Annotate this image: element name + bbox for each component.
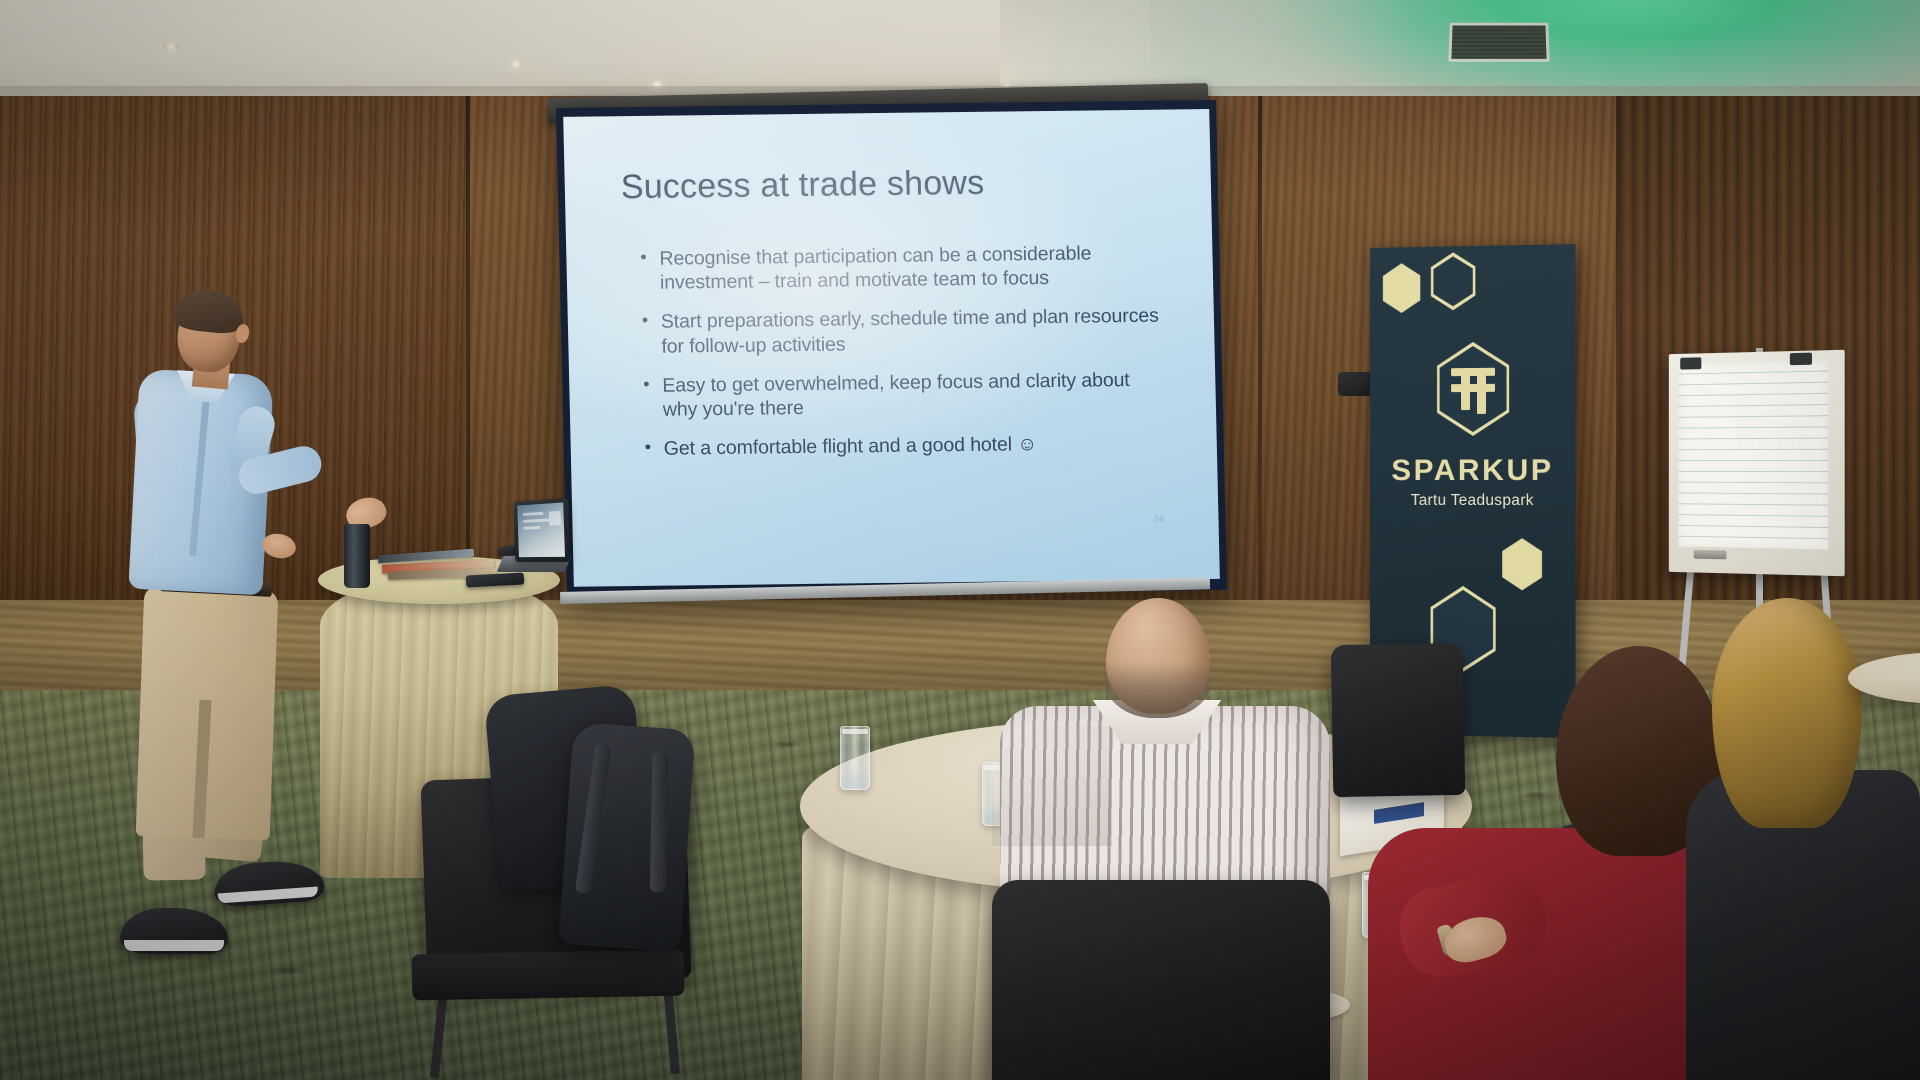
sparkup-brand-text: SPARKUP <box>1370 454 1576 488</box>
slide-bullet-item: Get a comfortable flight and a good hote… <box>644 431 1165 462</box>
hexagon-decor-icon <box>1499 538 1545 590</box>
hexagon-outline-icon <box>1427 252 1479 311</box>
backpack-strap <box>575 743 612 894</box>
flipchart-clip-icon <box>1680 357 1701 369</box>
downlight-icon <box>163 42 179 51</box>
slide-bullet-item: Recognise that participation can be a co… <box>640 241 1161 296</box>
slide-title: Success at trade shows <box>620 162 1167 208</box>
water-glass[interactable] <box>840 726 870 790</box>
ceiling-green-gradient <box>1000 0 1420 100</box>
chair-occupied-center[interactable] <box>1331 643 1466 797</box>
slide-bullet-item: Start preparations early, schedule time … <box>642 304 1163 359</box>
laptop-lid[interactable] <box>514 498 571 562</box>
downlight-icon <box>508 60 523 68</box>
backpack <box>558 722 695 952</box>
sparkup-tagline-text: Tartu Teaduspark <box>1370 492 1576 510</box>
attendee-dark-jacket-hair <box>1712 598 1862 828</box>
hexagon-decor-icon <box>1380 263 1423 313</box>
wall-speaker-icon <box>1338 372 1372 396</box>
backpack-strap <box>650 752 668 892</box>
presenter-shoe-sole <box>124 940 224 951</box>
flipchart-clip-icon <box>1790 353 1812 366</box>
chair-foreground[interactable] <box>992 880 1330 1080</box>
slide-bullet-list: Recognise that participation can be a co… <box>622 241 1173 462</box>
slide-surface: Success at trade shows Recognise that pa… <box>563 109 1220 587</box>
laptop-screen <box>517 502 565 557</box>
flipchart-easel <box>1669 350 1845 577</box>
conference-room-photo: SPARKUP Tartu Teaduspark Success at trad… <box>0 0 1920 1080</box>
slide-number: 58 <box>1154 514 1164 524</box>
wall-seam <box>1258 96 1262 656</box>
projection-screen: Success at trade shows Recognise that pa… <box>556 100 1227 598</box>
hvac-vent-icon <box>1448 23 1549 62</box>
black-tumbler <box>344 524 370 588</box>
chair-seat <box>412 950 685 1001</box>
attendee-shoulder-shading <box>992 726 1112 846</box>
flipchart-paper <box>1678 360 1828 549</box>
sparkup-logo-icon <box>1431 342 1515 437</box>
flipchart-marker <box>1694 550 1727 560</box>
slide-bullet-item: Easy to get overwhelmed, keep focus and … <box>643 367 1164 422</box>
